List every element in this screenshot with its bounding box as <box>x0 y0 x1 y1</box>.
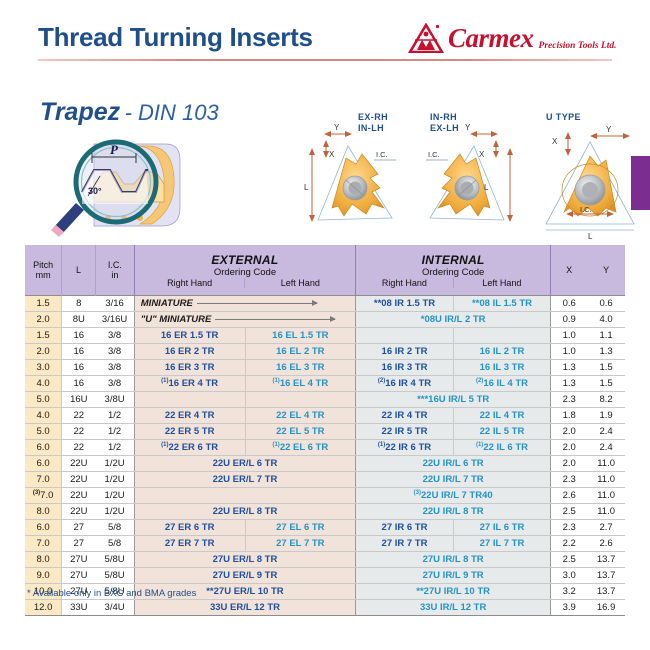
svg-text:Y: Y <box>606 125 612 134</box>
cell-external-rh: 16 ER 2 TR <box>134 344 245 360</box>
cell-ic: 5/8 <box>95 536 134 552</box>
carmex-logo: Carmex Precision Tools Ltd. <box>408 21 617 55</box>
cell-x: 2.3 <box>551 392 588 408</box>
cell-ic: 3/8 <box>95 344 134 360</box>
cell-internal-code: 27U IR/L 9 TR <box>356 568 551 584</box>
cell-internal-rh: 16 IR 2 TR <box>356 344 454 360</box>
table-row: 8.027U5/8U27U ER/L 8 TR27U IR/L 8 TR2.51… <box>25 552 625 568</box>
table-row: 5.0221/222 ER 5 TR22 EL 5 TR22 IR 5 TR22… <box>25 424 625 440</box>
cell-x: 2.2 <box>551 536 588 552</box>
cell-y: 1.5 <box>587 360 625 376</box>
section-name: Trapez <box>40 98 120 126</box>
svg-text:I.C.: I.C. <box>580 205 592 214</box>
cell-internal-lh: 22 IL 4 TR <box>453 408 550 424</box>
cell-x: 2.3 <box>551 472 588 488</box>
table-row: 3.0163/816 ER 3 TR16 EL 3 TR16 IR 3 TR16… <box>25 360 625 376</box>
cell-x: 1.0 <box>551 344 588 360</box>
cell-pitch: 4.0 <box>25 408 62 424</box>
svg-text:Y: Y <box>465 123 471 132</box>
cell-y: 8.2 <box>587 392 625 408</box>
header-external: EXTERNAL Ordering Code Right Hand Left H… <box>134 245 355 296</box>
cell-internal-code: 22U IR/L 7 TR <box>356 472 551 488</box>
svg-text:X: X <box>479 150 485 159</box>
header-x: X <box>551 245 588 296</box>
table-row: 6.022U1/2U22U ER/L 6 TR22U IR/L 6 TR2.01… <box>25 456 625 472</box>
cell-external-lh <box>245 392 356 408</box>
brand-name: Carmex <box>448 25 534 52</box>
cell-ic: 3/16 <box>95 296 134 312</box>
insert-diagrams: EX-RHIN-LH IN-RHEX-LH U TYPE <box>300 112 640 240</box>
cell-external-rh: 22 ER 4 TR <box>134 408 245 424</box>
cell-y: 13.7 <box>587 568 625 584</box>
cell-l: 16 <box>62 328 96 344</box>
header-l: L <box>62 245 96 296</box>
cell-x: 2.0 <box>551 440 588 456</box>
cell-external-lh: (1)22 EL 6 TR <box>245 440 356 456</box>
cell-pitch: 12.0 <box>25 600 62 616</box>
cell-l: 16 <box>62 360 96 376</box>
table-row: 6.0275/827 ER 6 TR27 EL 6 TR27 IR 6 TR27… <box>25 520 625 536</box>
cell-pitch: 2.0 <box>25 312 62 328</box>
cell-y: 0.6 <box>587 296 625 312</box>
angle-label: 30° <box>88 186 102 196</box>
cell-ic: 5/8U <box>95 568 134 584</box>
cell-ic: 1/2U <box>95 488 134 504</box>
cell-external-code <box>134 488 355 504</box>
cell-ic: 3/16U <box>95 312 134 328</box>
table-row: 12.033U3/4U33U ER/L 12 TR33U IR/L 12 TR3… <box>25 600 625 616</box>
table-row: 4.0221/222 ER 4 TR22 EL 4 TR22 IR 4 TR22… <box>25 408 625 424</box>
table-row: 1.5163/816 ER 1.5 TR16 EL 1.5 TR1.01.1 <box>25 328 625 344</box>
cell-external-rh: 16 ER 1.5 TR <box>134 328 245 344</box>
cell-internal-lh: (2)16 IL 4 TR <box>453 376 550 392</box>
cell-y: 11.0 <box>587 472 625 488</box>
cell-y: 11.0 <box>587 504 625 520</box>
cell-pitch: 2.0 <box>25 344 62 360</box>
table-row: (3)7.022U1/2U(3)22U IR/L 7 TR402.611.0 <box>25 488 625 504</box>
cell-pitch: 1.5 <box>25 328 62 344</box>
section-color-tab <box>631 156 650 210</box>
cell-x: 1.8 <box>551 408 588 424</box>
cell-l: 27 <box>62 536 96 552</box>
cell-external-code: 22U ER/L 6 TR <box>134 456 355 472</box>
cell-ic: 3/8U <box>95 392 134 408</box>
cell-y: 1.1 <box>587 328 625 344</box>
cell-pitch: 5.0 <box>25 424 62 440</box>
svg-text:Y: Y <box>334 123 340 132</box>
cell-ic: 1/2U <box>95 472 134 488</box>
cell-ic: 1/2 <box>95 408 134 424</box>
cell-l: 22 <box>62 440 96 456</box>
cell-ic: 1/2 <box>95 440 134 456</box>
cell-pitch: 8.0 <box>25 552 62 568</box>
cell-l: 22U <box>62 456 96 472</box>
table-row: 2.0163/816 ER 2 TR16 EL 2 TR16 IR 2 TR16… <box>25 344 625 360</box>
table-row: 7.0275/827 ER 7 TR27 EL 7 TR27 IR 7 TR27… <box>25 536 625 552</box>
cell-ic: 3/8 <box>95 376 134 392</box>
diagram-label-u-type: U TYPE <box>546 112 581 123</box>
cell-x: 1.3 <box>551 360 588 376</box>
cell-internal-lh: 16 IL 2 TR <box>453 344 550 360</box>
cell-internal-rh: 27 IR 7 TR <box>356 536 454 552</box>
cell-ic: 3/4U <box>95 600 134 616</box>
section-standard: - DIN 103 <box>125 100 219 125</box>
cell-external-lh: 22 EL 5 TR <box>245 424 356 440</box>
cell-external-rh: 16 ER 3 TR <box>134 360 245 376</box>
cell-y: 13.7 <box>587 552 625 568</box>
thread-profile-illustration: P 30° <box>48 130 248 238</box>
cell-x: 3.2 <box>551 584 588 600</box>
svg-text:L: L <box>304 183 309 192</box>
header-y: Y <box>587 245 625 296</box>
cell-pitch: 5.0 <box>25 392 62 408</box>
cell-internal-rh: **08 IR 1.5 TR <box>356 296 454 312</box>
cell-ic: 1/2 <box>95 424 134 440</box>
cell-l: 22 <box>62 408 96 424</box>
cell-x: 3.0 <box>551 568 588 584</box>
cell-internal-rh <box>356 328 454 344</box>
cell-y: 2.6 <box>587 536 625 552</box>
cell-l: 8 <box>62 296 96 312</box>
cell-x: 0.9 <box>551 312 588 328</box>
diagram-label-in-rh: IN-RHEX-LH <box>430 112 459 134</box>
section-title: Trapez - DIN 103 <box>40 98 219 127</box>
table-row: 4.0163/8(1)16 ER 4 TR(1)16 EL 4 TR(2)16 … <box>25 376 625 392</box>
catalog-page: Thread Turning Inserts Carmex Precision … <box>0 0 650 650</box>
cell-ic: 5/8U <box>95 552 134 568</box>
pitch-label: P <box>110 142 119 157</box>
cell-pitch: 8.0 <box>25 504 62 520</box>
cell-internal-code: 22U IR/L 6 TR <box>356 456 551 472</box>
svg-text:I.C.: I.C. <box>428 150 440 159</box>
cell-external-rh: 27 ER 6 TR <box>134 520 245 536</box>
cell-l: 16U <box>62 392 96 408</box>
cell-internal-lh: (1)22 IL 6 TR <box>453 440 550 456</box>
cell-pitch: 1.5 <box>25 296 62 312</box>
table-row: 1.583/16MINIATURE**08 IR 1.5 TR**08 IL 1… <box>25 296 625 312</box>
cell-ic: 1/2U <box>95 456 134 472</box>
cell-external-lh: 16 EL 2 TR <box>245 344 356 360</box>
table-row: 7.022U1/2U22U ER/L 7 TR22U IR/L 7 TR2.31… <box>25 472 625 488</box>
svg-text:L: L <box>588 232 593 240</box>
cell-y: 13.7 <box>587 584 625 600</box>
cell-internal-rh: (1)22 IR 6 TR <box>356 440 454 456</box>
cell-pitch: 6.0 <box>25 456 62 472</box>
header-ic: I.C. in <box>95 245 134 296</box>
cell-l: 27U <box>62 552 96 568</box>
header-internal: INTERNAL Ordering Code Right Hand Left H… <box>356 245 551 296</box>
cell-internal-code: 33U IR/L 12 TR <box>356 600 551 616</box>
cell-y: 1.3 <box>587 344 625 360</box>
cell-l: 27U <box>62 568 96 584</box>
svg-text:X: X <box>552 137 558 146</box>
svg-text:I.C.: I.C. <box>376 150 388 159</box>
cell-y: 16.9 <box>587 600 625 616</box>
cell-pitch: 4.0 <box>25 376 62 392</box>
cell-internal-code: *08U IR/L 2 TR <box>356 312 551 328</box>
cell-ic: 1/2U <box>95 504 134 520</box>
cell-y: 1.9 <box>587 408 625 424</box>
cell-x: 3.9 <box>551 600 588 616</box>
cell-external-rh: 22 ER 5 TR <box>134 424 245 440</box>
cell-internal-code: 22U IR/L 8 TR <box>356 504 551 520</box>
cell-y: 1.5 <box>587 376 625 392</box>
cell-x: 1.3 <box>551 376 588 392</box>
table-row: 2.08U3/16U"U" MINIATURE*08U IR/L 2 TR0.9… <box>25 312 625 328</box>
cell-external-code: 22U ER/L 8 TR <box>134 504 355 520</box>
insert-geometry-svg: L Y X I.C. <box>300 112 640 240</box>
cell-external-lh: 22 EL 4 TR <box>245 408 356 424</box>
cell-ic: 5/8 <box>95 520 134 536</box>
cell-internal-lh: 22 IL 5 TR <box>453 424 550 440</box>
cell-internal-code: ***16U IR/L 5 TR <box>356 392 551 408</box>
page-header: Thread Turning Inserts Carmex Precision … <box>0 0 650 66</box>
cell-internal-code: 27U IR/L 8 TR <box>356 552 551 568</box>
cell-ic: 3/8 <box>95 360 134 376</box>
cell-pitch: 6.0 <box>25 520 62 536</box>
cell-pitch: 7.0 <box>25 472 62 488</box>
diagram-label-ex-rh: EX-RHIN-LH <box>358 112 388 134</box>
cell-pitch: 7.0 <box>25 536 62 552</box>
cell-external-code: 33U ER/L 12 TR <box>134 600 355 616</box>
cell-external-lh: 16 EL 3 TR <box>245 360 356 376</box>
cell-internal-rh: 16 IR 3 TR <box>356 360 454 376</box>
table-footnote: * Available only in BXC and BMA grades <box>27 588 196 599</box>
cell-external-rh <box>134 392 245 408</box>
cell-l: 16 <box>62 376 96 392</box>
cell-x: 2.6 <box>551 488 588 504</box>
table-row: 6.0221/2(1)22 ER 6 TR(1)22 EL 6 TR(1)22 … <box>25 440 625 456</box>
cell-l: 22U <box>62 488 96 504</box>
cell-internal-lh: 27 IL 6 TR <box>453 520 550 536</box>
cell-l: 27 <box>62 520 96 536</box>
cell-internal-lh: 27 IL 7 TR <box>453 536 550 552</box>
cell-external-code: 22U ER/L 7 TR <box>134 472 355 488</box>
cell-internal-rh: 22 IR 5 TR <box>356 424 454 440</box>
insert-specification-table: Pitch mm L I.C. in EXTERNAL Ordering Cod… <box>25 245 625 616</box>
cell-x: 2.0 <box>551 456 588 472</box>
header-divider <box>38 59 612 61</box>
cell-l: 22U <box>62 504 96 520</box>
cell-l: 33U <box>62 600 96 616</box>
svg-text:L: L <box>484 183 489 192</box>
cell-external-code: 27U ER/L 8 TR <box>134 552 355 568</box>
cell-l: 22 <box>62 424 96 440</box>
cell-internal-lh: **08 IL 1.5 TR <box>453 296 550 312</box>
cell-y: 11.0 <box>587 488 625 504</box>
page-title: Thread Turning Inserts <box>38 22 313 53</box>
cell-internal-lh: 16 IL 3 TR <box>453 360 550 376</box>
brand-tagline: Precision Tools Ltd. <box>539 41 617 51</box>
cell-internal-rh: (2)16 IR 4 TR <box>356 376 454 392</box>
cell-y: 2.4 <box>587 440 625 456</box>
cell-x: 2.0 <box>551 424 588 440</box>
svg-text:X: X <box>329 150 335 159</box>
cell-external-code: MINIATURE <box>134 296 355 312</box>
cell-external-lh: 27 EL 6 TR <box>245 520 356 536</box>
cell-external-rh: (1)22 ER 6 TR <box>134 440 245 456</box>
cell-x: 2.5 <box>551 552 588 568</box>
cell-l: 8U <box>62 312 96 328</box>
cell-x: 1.0 <box>551 328 588 344</box>
carmex-triangle-icon <box>408 23 444 53</box>
cell-pitch: 6.0 <box>25 440 62 456</box>
header-pitch: Pitch mm <box>25 245 62 296</box>
cell-ic: 3/8 <box>95 328 134 344</box>
cell-external-lh: 16 EL 1.5 TR <box>245 328 356 344</box>
cell-x: 0.6 <box>551 296 588 312</box>
table-header-row: Pitch mm L I.C. in EXTERNAL Ordering Cod… <box>25 245 625 296</box>
cell-external-code: "U" MINIATURE <box>134 312 355 328</box>
cell-y: 4.0 <box>587 312 625 328</box>
table-row: 5.016U3/8U***16U IR/L 5 TR2.38.2 <box>25 392 625 408</box>
cell-pitch: 3.0 <box>25 360 62 376</box>
cell-l: 16 <box>62 344 96 360</box>
table-row: 9.027U5/8U27U ER/L 9 TR27U IR/L 9 TR3.01… <box>25 568 625 584</box>
cell-external-rh: 27 ER 7 TR <box>134 536 245 552</box>
cell-pitch: 9.0 <box>25 568 62 584</box>
cell-internal-code: **27U IR/L 10 TR <box>356 584 551 600</box>
cell-internal-code: (3)22U IR/L 7 TR40 <box>356 488 551 504</box>
cell-external-lh: (1)16 EL 4 TR <box>245 376 356 392</box>
cell-x: 2.5 <box>551 504 588 520</box>
cell-y: 2.7 <box>587 520 625 536</box>
cell-x: 2.3 <box>551 520 588 536</box>
cell-internal-rh: 22 IR 4 TR <box>356 408 454 424</box>
cell-y: 11.0 <box>587 456 625 472</box>
table-row: 8.022U1/2U22U ER/L 8 TR22U IR/L 8 TR2.51… <box>25 504 625 520</box>
cell-internal-rh: 27 IR 6 TR <box>356 520 454 536</box>
cell-y: 2.4 <box>587 424 625 440</box>
cell-internal-lh <box>453 328 550 344</box>
cell-l: 22U <box>62 472 96 488</box>
cell-external-lh: 27 EL 7 TR <box>245 536 356 552</box>
cell-pitch: (3)7.0 <box>25 488 62 504</box>
cell-external-rh: (1)16 ER 4 TR <box>134 376 245 392</box>
cell-external-code: 27U ER/L 9 TR <box>134 568 355 584</box>
